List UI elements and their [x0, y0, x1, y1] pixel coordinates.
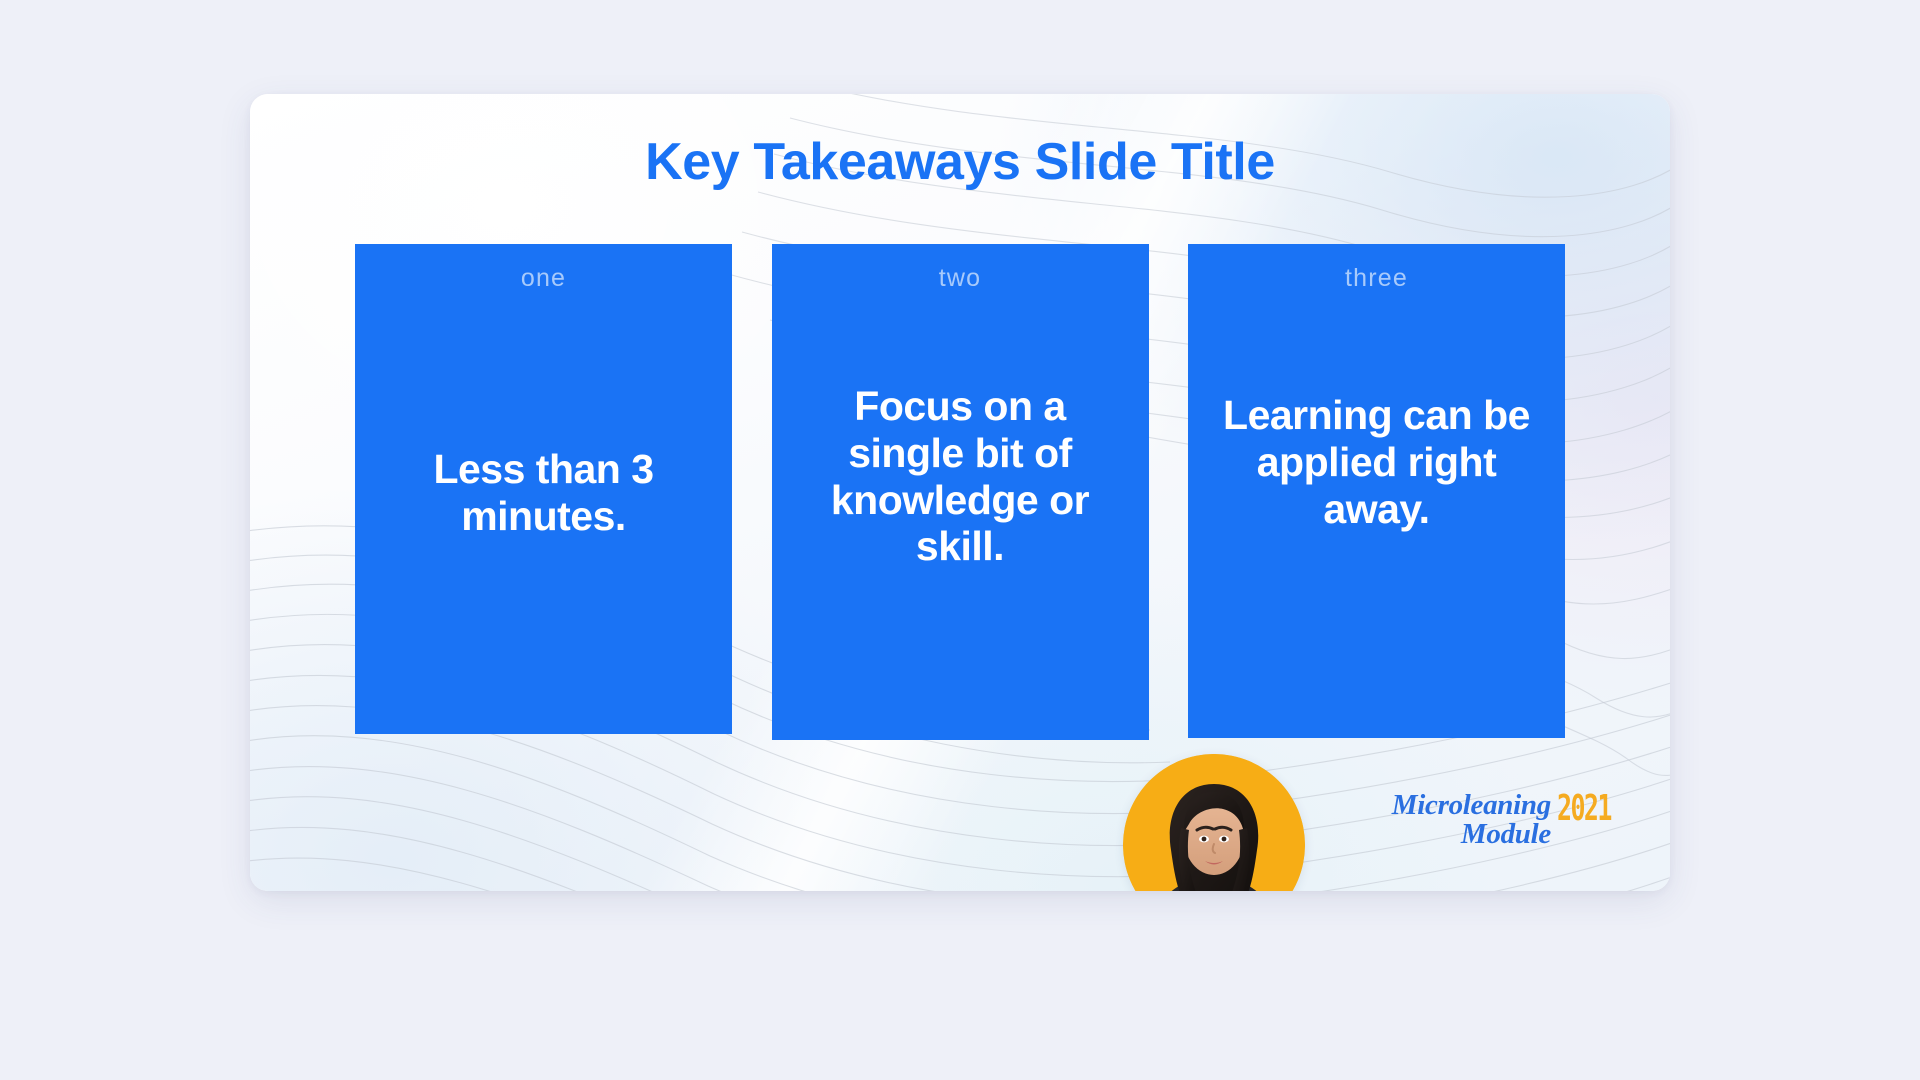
page-title: Key Takeaways Slide Title [250, 134, 1670, 191]
brand-logo-line-2: Module [1461, 821, 1551, 849]
brand-logo-year: 2021 [1557, 790, 1611, 826]
card-body-one: Less than 3 minutes. [377, 446, 710, 539]
takeaway-card-two[interactable]: two Focus on a single bit of knowledge o… [772, 244, 1149, 740]
presentation-slide: Key Takeaways Slide Title one Less than … [250, 94, 1670, 891]
takeaway-cards: one Less than 3 minutes. two Focus on a … [355, 244, 1565, 744]
card-body-three: Learning can be applied right away. [1210, 392, 1543, 532]
brand-logo-line-1: Microleaning [1392, 792, 1551, 820]
card-eyebrow-two: two [939, 266, 982, 291]
brand-logo: Microleaning Module 2021 [1392, 792, 1626, 849]
presenter-photo-icon [1123, 754, 1305, 891]
avatar [1123, 754, 1305, 891]
card-body-wrap-three: Learning can be applied right away. [1188, 291, 1565, 738]
card-eyebrow-three: three [1345, 266, 1408, 291]
takeaway-card-three[interactable]: three Learning can be applied right away… [1188, 244, 1565, 738]
card-eyebrow-one: one [521, 266, 566, 291]
slide-stage: Key Takeaways Slide Title one Less than … [0, 0, 1920, 1080]
brand-logo-words: Microleaning Module [1392, 792, 1551, 849]
takeaway-card-one[interactable]: one Less than 3 minutes. [355, 244, 732, 734]
card-body-wrap-two: Focus on a single bit of knowledge or sk… [772, 291, 1149, 740]
card-body-two: Focus on a single bit of knowledge or sk… [794, 383, 1127, 570]
card-body-wrap-one: Less than 3 minutes. [355, 291, 732, 734]
